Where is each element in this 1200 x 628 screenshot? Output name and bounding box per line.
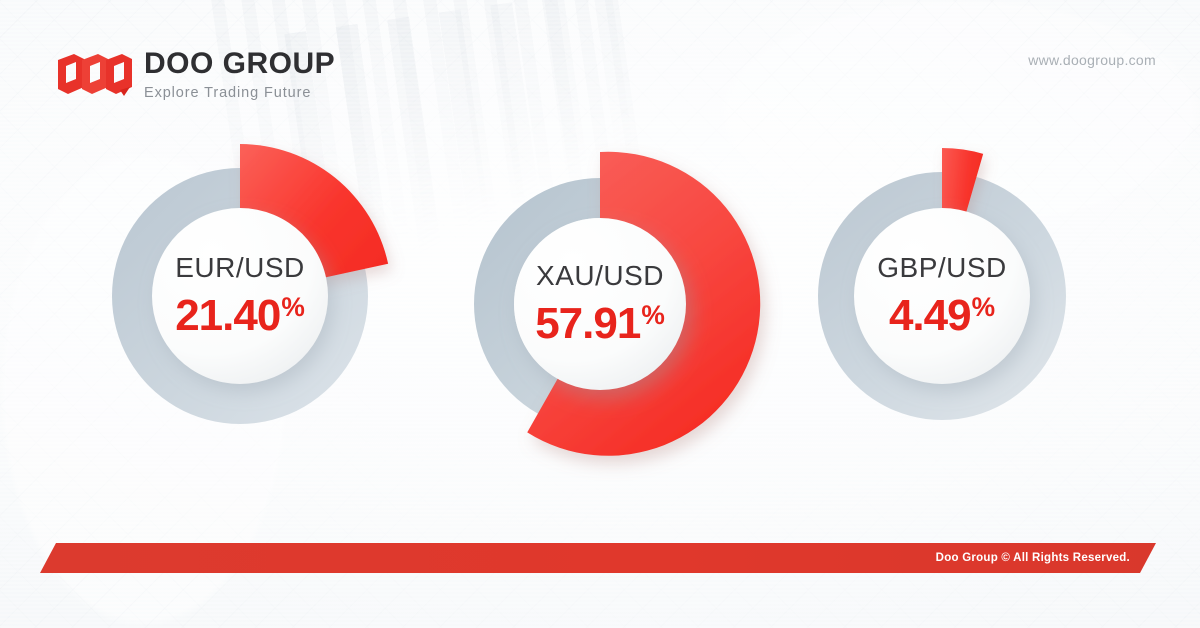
footer-ribbon: Doo Group © All Rights Reserved.	[40, 543, 1156, 573]
brand-logo[interactable]: DOO GROUP Explore Trading Future	[56, 48, 335, 103]
doo-triple-d-mark-icon	[56, 50, 134, 98]
hub-eur-usd	[152, 208, 328, 384]
copyright-text: Doo Group © All Rights Reserved.	[936, 543, 1130, 573]
site-url[interactable]: www.doogroup.com	[1028, 52, 1156, 68]
brand-name: DOO GROUP	[144, 48, 335, 80]
donut-chart-eur-usd[interactable]: EUR/USD 21.40 %	[112, 154, 432, 454]
donut-chart-group: EUR/USD 21.40 %	[0, 118, 1200, 518]
hub-gbp-usd	[854, 208, 1030, 384]
infographic-canvas: DOO GROUP Explore Trading Future www.doo…	[0, 0, 1200, 628]
header: DOO GROUP Explore Trading Future www.doo…	[0, 0, 1200, 130]
donut-chart-gbp-usd[interactable]: GBP/USD 4.49 %	[818, 154, 1138, 454]
hub-xau-usd	[514, 218, 686, 390]
donut-chart-xau-usd[interactable]: XAU/USD 57.91 %	[440, 138, 780, 518]
brand-tagline: Explore Trading Future	[144, 83, 335, 103]
